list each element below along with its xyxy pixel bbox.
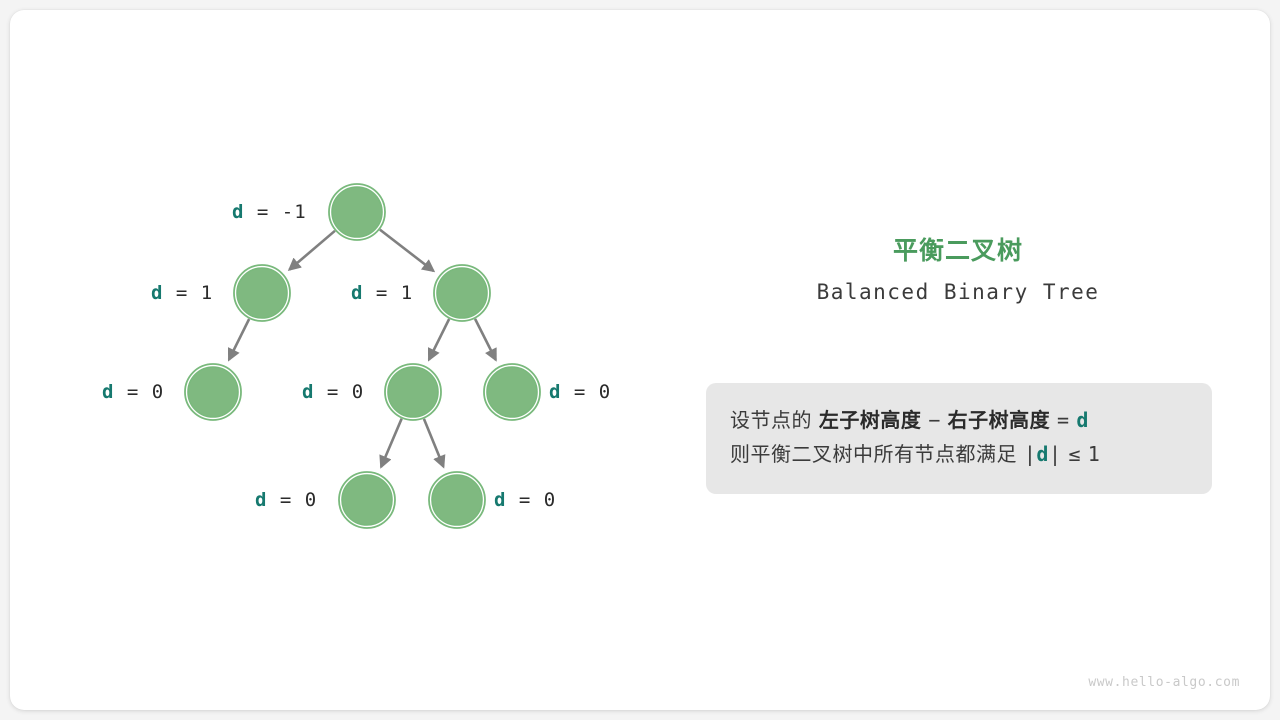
label-value: 0 [544,489,556,511]
constraint-variable-d: d [1036,442,1049,466]
tree-edge [381,419,402,467]
label-variable: d [255,489,267,511]
label-value: -1 [282,201,307,223]
tree-node-circle [188,367,238,417]
tree-node-circle [332,187,382,237]
node-balance-factor-label: d = 0 [549,381,611,403]
tree-edge [289,231,335,270]
watermark-url: www.hello-algo.com [1088,675,1240,690]
node-balance-factor-label: d = 0 [494,489,556,511]
tree-edge [380,230,434,271]
tree-node-circle [388,367,438,417]
label-value: 0 [152,381,164,403]
diagram-card: d = -1d = 1d = 1d = 0d = 0d = 0d = 0d = … [10,10,1270,710]
label-value: 0 [352,381,364,403]
info-panel: 平衡二叉树 Balanced Binary Tree [700,235,1216,304]
tree-node [385,364,441,420]
label-value: 0 [305,489,317,511]
tree-node [484,364,540,420]
tree-node [339,472,395,528]
label-operator: = [363,282,400,304]
label-operator: = [561,381,598,403]
definition-equals: = [1057,408,1070,432]
constraint-prefix: 则平衡二叉树中所有节点都满足 [730,442,1017,466]
tree-node [329,184,385,240]
tree-edge [429,319,449,360]
abs-bar-open: | [1024,442,1037,466]
definition-line-2: 则平衡二叉树中所有节点都满足 |d| ≤ 1 [730,437,1188,471]
node-balance-factor-label: d = 0 [255,489,317,511]
label-variable: d [494,489,506,511]
label-value: 1 [201,282,213,304]
node-balance-factor-label: d = 0 [302,381,364,403]
definition-term-right: 右子树高度 [948,408,1051,432]
tree-node-circle [342,475,392,525]
tree-node [434,265,490,321]
node-balance-factor-label: d = 0 [102,381,164,403]
definition-line-1: 设节点的 左子树高度 − 右子树高度 = d [730,403,1188,437]
tree-edge [424,419,443,467]
label-value: 0 [599,381,611,403]
tree-edge [475,319,496,360]
constraint-relation: ≤ [1068,442,1081,466]
tree-node-circle [487,367,537,417]
definition-variable-d: d [1076,408,1089,432]
constraint-bound: 1 [1088,442,1101,466]
diagram-canvas: d = -1d = 1d = 1d = 0d = 0d = 0d = 0d = … [0,0,1280,720]
label-operator: = [114,381,151,403]
tree-node [234,265,290,321]
label-operator: = [244,201,281,223]
label-operator: = [506,489,543,511]
label-variable: d [549,381,561,403]
binary-tree-graphic [10,10,1270,710]
definition-prefix: 设节点的 [730,408,812,432]
panel-subtitle-english: Balanced Binary Tree [700,280,1216,304]
definition-minus: − [928,408,941,432]
tree-nodes [185,184,540,528]
label-operator: = [314,381,351,403]
tree-node-circle [237,268,287,318]
node-balance-factor-label: d = -1 [232,201,307,223]
tree-node [429,472,485,528]
tree-edge [229,319,249,360]
panel-title-chinese: 平衡二叉树 [700,235,1216,268]
label-operator: = [163,282,200,304]
tree-node-circle [437,268,487,318]
node-balance-factor-label: d = 1 [351,282,413,304]
abs-bar-close: | [1049,442,1062,466]
label-variable: d [232,201,244,223]
label-operator: = [267,489,304,511]
label-variable: d [351,282,363,304]
definition-term-left: 左子树高度 [819,408,922,432]
label-variable: d [151,282,163,304]
definition-box: 设节点的 左子树高度 − 右子树高度 = d 则平衡二叉树中所有节点都满足 |d… [706,383,1212,494]
label-value: 1 [401,282,413,304]
tree-node [185,364,241,420]
node-balance-factor-label: d = 1 [151,282,213,304]
tree-node-circle [432,475,482,525]
label-variable: d [302,381,314,403]
label-variable: d [102,381,114,403]
